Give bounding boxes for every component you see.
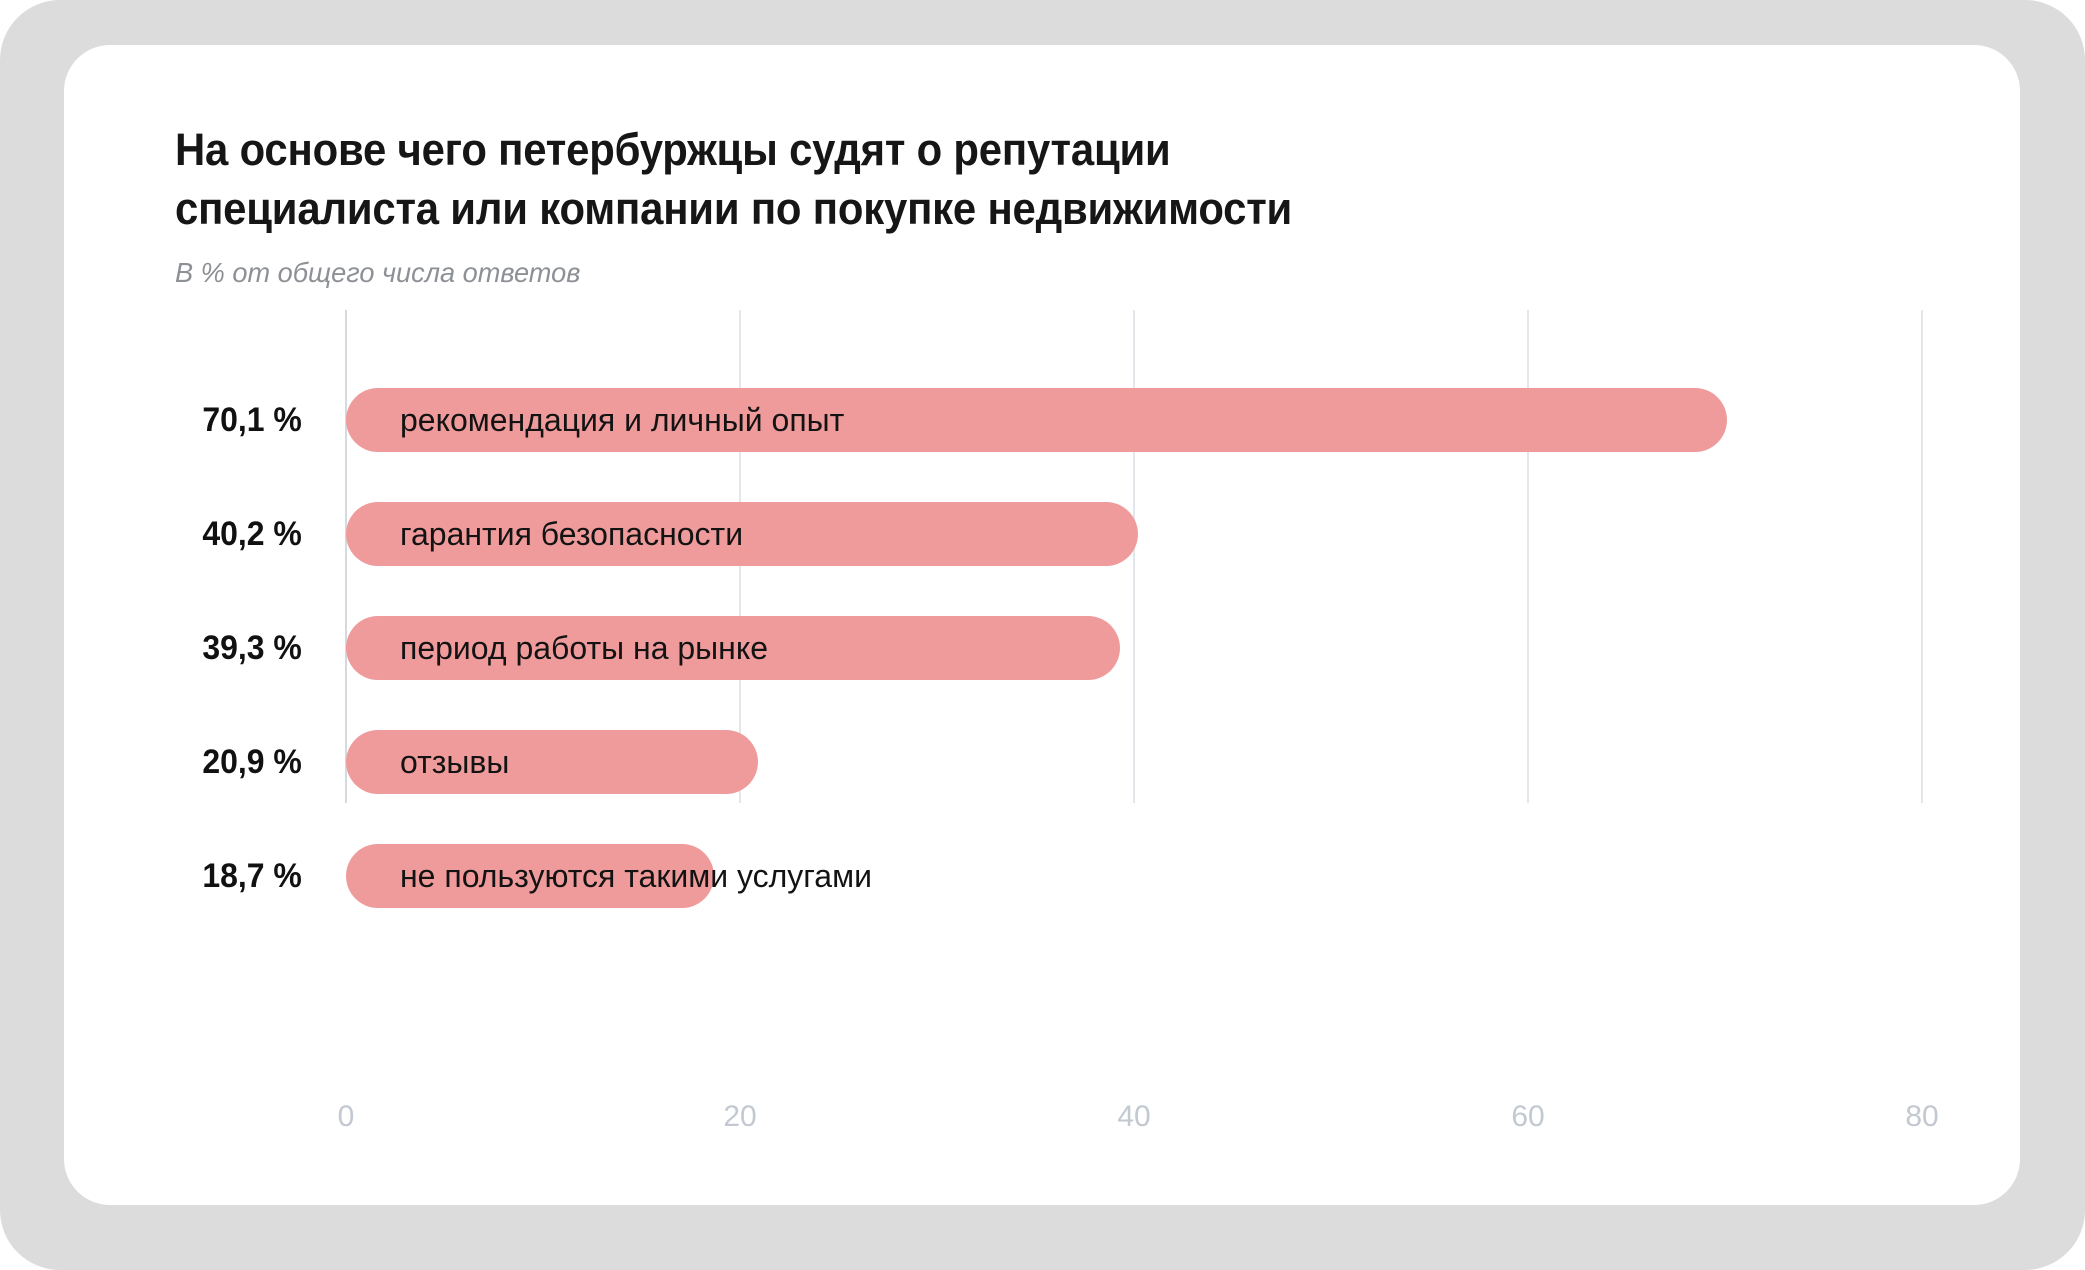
x-axis-tick-label: 20 [723, 1100, 756, 1134]
bar-row[interactable]: 20,9 %отзывы [64, 730, 2020, 794]
bar-category-label: период работы на рынке [400, 630, 768, 666]
chart-plot-area: 02040608070,1 %рекомендация и личный опы… [64, 45, 2020, 1205]
bar-row[interactable]: 70,1 %рекомендация и личный опыт [64, 388, 2020, 452]
x-axis-tick-label: 40 [1117, 1100, 1150, 1134]
bar-value-label: 70,1 % [202, 401, 302, 439]
page-background: На основе чего петербуржцы судят о репут… [0, 0, 2085, 1270]
bar-category-label: не пользуются такими услугами [400, 858, 872, 894]
x-axis-tick-label: 80 [1905, 1100, 1938, 1134]
bar-category-label: гарантия безопасности [400, 516, 743, 552]
chart-card: На основе чего петербуржцы судят о репут… [64, 45, 2020, 1205]
x-axis-tick-label: 60 [1511, 1100, 1544, 1134]
bar-value-label: 20,9 % [202, 743, 302, 781]
x-axis-tick-label: 0 [338, 1100, 355, 1134]
bar-value-label: 39,3 % [202, 629, 302, 667]
bar-value-label: 40,2 % [202, 515, 302, 553]
bar-category-label: отзывы [400, 744, 509, 780]
bar-value-label: 18,7 % [202, 857, 302, 895]
bar-category-label: рекомендация и личный опыт [400, 402, 844, 438]
bar-row[interactable]: 40,2 %гарантия безопасности [64, 502, 2020, 566]
bar-row[interactable]: 39,3 %период работы на рынке [64, 616, 2020, 680]
bar-row[interactable]: 18,7 %не пользуются такими услугами [64, 844, 2020, 908]
